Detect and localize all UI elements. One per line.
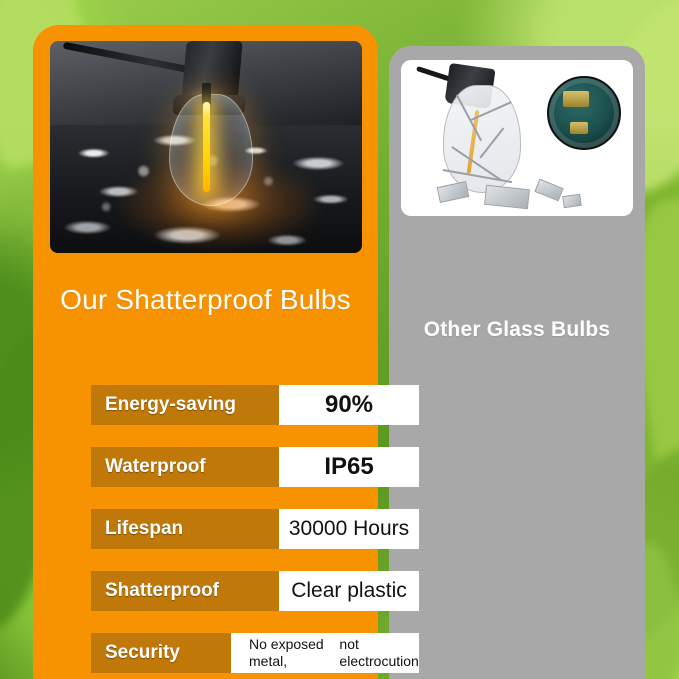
spec-row-label: Lifespan (91, 509, 279, 549)
led-filament-graphic (203, 102, 210, 192)
glass-shard (534, 179, 563, 202)
our-shatterproof-bulbs-panel: Our Shatterproof Bulbs Energy-saving90%W… (33, 25, 378, 679)
spec-row-value: IP65 (279, 447, 419, 487)
other-glass-bulbs-panel: Other Glass Bulbs Energy-saving40%Waterp… (389, 46, 645, 679)
exposed-socket-closeup-inset (547, 76, 621, 150)
spec-row: Energy-saving90% (91, 385, 419, 425)
spec-row-label: Shatterproof (91, 571, 279, 611)
glass-shard (563, 193, 582, 207)
glass-shard (484, 184, 530, 208)
glass-shard (437, 181, 470, 203)
spec-row-label: Energy-saving (91, 385, 279, 425)
other-bulbs-heading: Other Glass Bulbs (401, 318, 633, 343)
spec-row-label: Waterproof (91, 447, 279, 487)
spec-row-value: 90% (279, 385, 419, 425)
spec-row: SecurityNo exposed metal,not electrocuti… (91, 633, 419, 673)
our-bulbs-spec-table: Energy-saving90%WaterproofIP65Lifespan30… (91, 385, 419, 679)
spec-row-label: Security (91, 633, 231, 673)
shatterproof-bulb-graphic (169, 94, 253, 206)
our-bulb-photo (50, 41, 362, 253)
spec-row: ShatterproofClear plastic (91, 571, 419, 611)
spec-row: WaterproofIP65 (91, 447, 419, 487)
comparison-infographic: Other Glass Bulbs Energy-saving40%Waterp… (0, 0, 679, 679)
our-bulbs-heading: Our Shatterproof Bulbs (53, 283, 358, 316)
spec-row: Lifespan30000 Hours (91, 509, 419, 549)
spec-row-value: 30000 Hours (279, 509, 419, 549)
spec-row-value: No exposed metal,not electrocution (231, 633, 419, 673)
other-bulb-photo (401, 60, 633, 216)
spec-row-value: Clear plastic (279, 571, 419, 611)
